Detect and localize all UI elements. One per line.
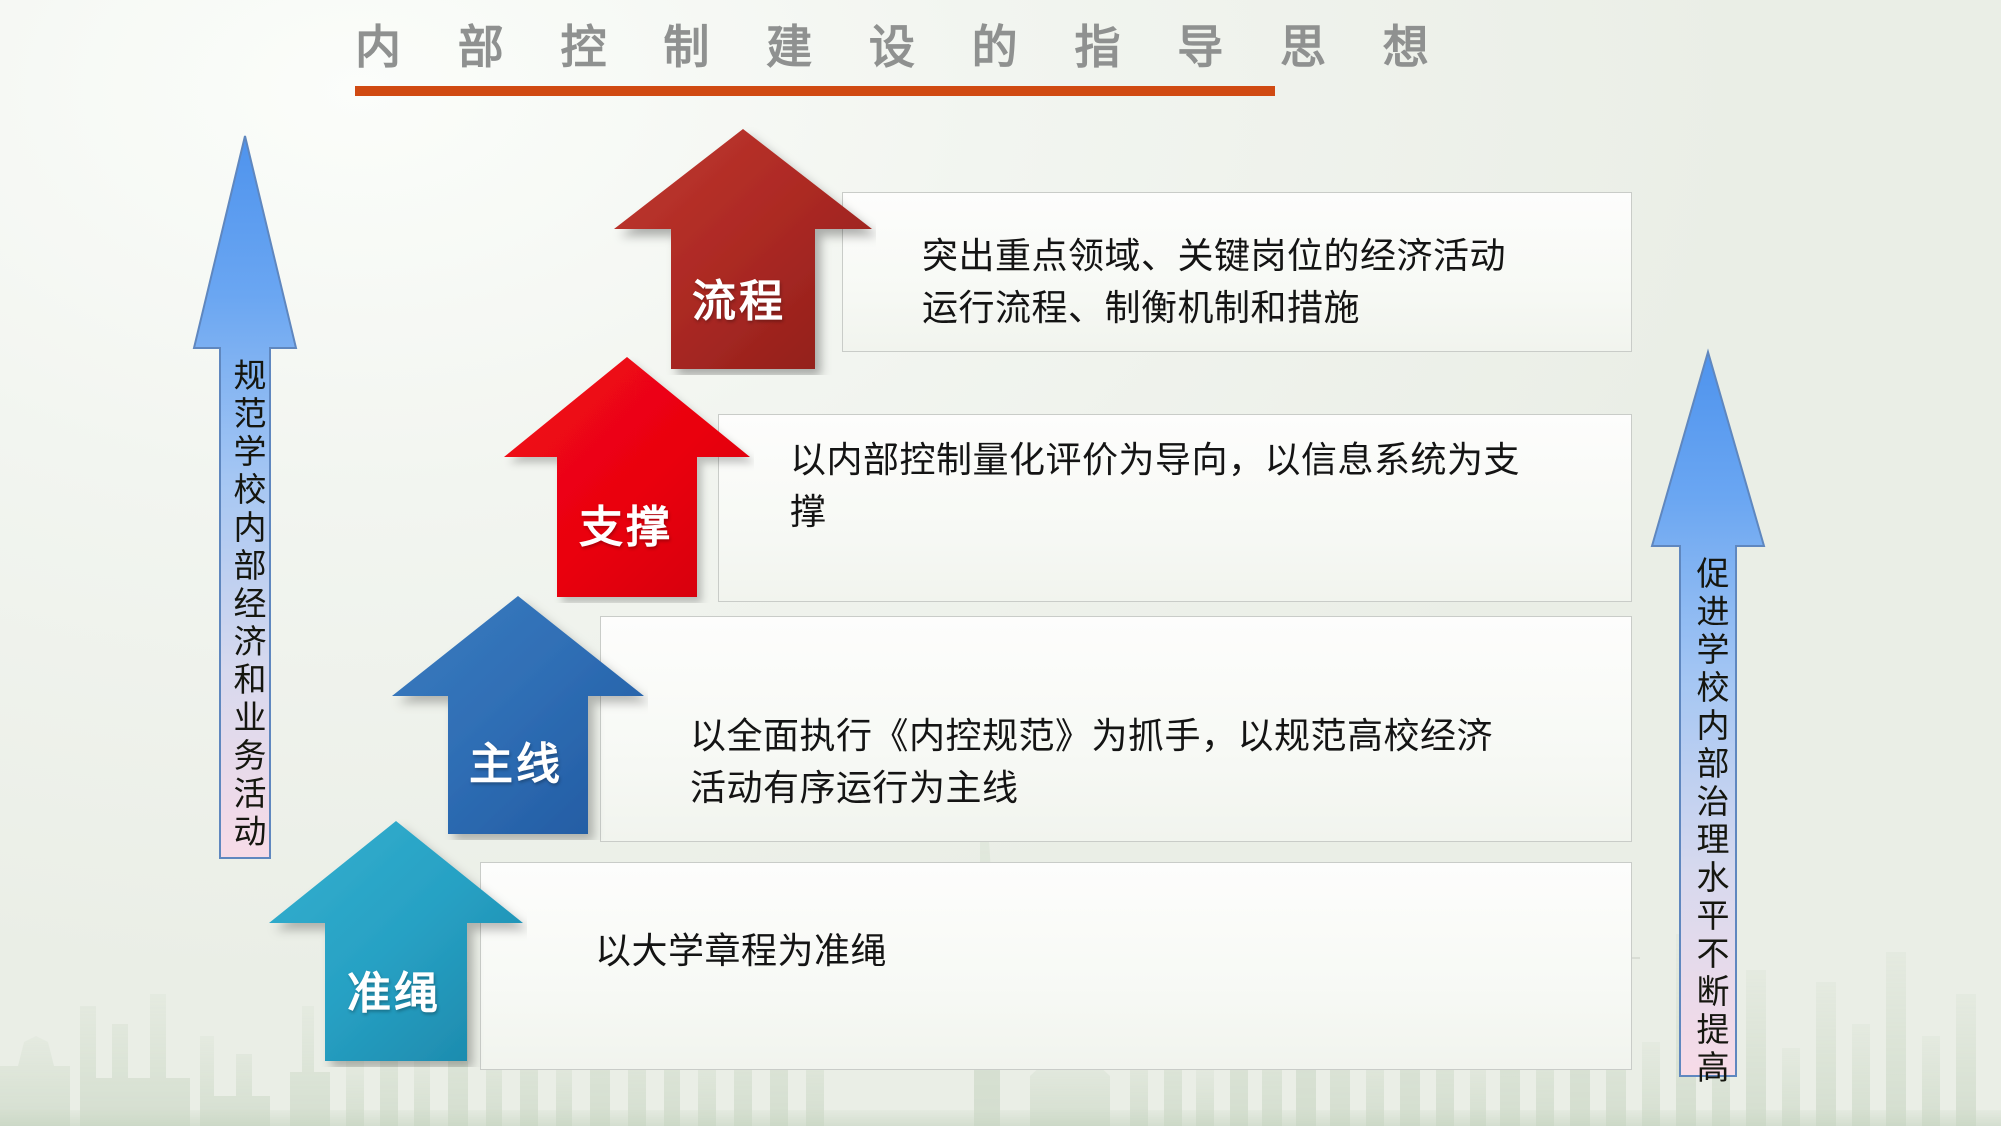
description-text-2: 以内部控制量化评价为导向，以信息系统为支 撑: [790, 434, 1620, 538]
description-line: 活动有序运行为主线: [690, 762, 1640, 814]
step-arrow-shape-3: [388, 592, 648, 840]
description-text-4: 以大学章程为准绳: [595, 925, 1295, 977]
slide-canvas: 内 部 控 制 建 设 的 指 导 思 想 规范学校内部经济和业务活动: [0, 0, 2001, 1126]
left-outcome-arrow: 规范学校内部经济和业务活动: [190, 132, 300, 862]
description-line: 以大学章程为准绳: [595, 925, 1295, 977]
step-arrow-zhunsheng: 准绳: [265, 817, 527, 1067]
description-line: 以内部控制量化评价为导向，以信息系统为支: [790, 434, 1620, 486]
description-line: 撑: [790, 486, 1620, 538]
step-arrow-shape-4: [265, 817, 527, 1067]
step-arrow-zhicheng: 支撑: [500, 353, 754, 603]
left-arrow-label: 规范学校内部经济和业务活动: [229, 358, 262, 852]
step-arrow-liucheng: 流程: [610, 125, 876, 375]
title-underline-rule: [355, 86, 1275, 96]
step-arrow-zhuxian: 主线: [388, 592, 648, 840]
step-label-2: 支撑: [579, 491, 673, 555]
step-label-4: 准绳: [347, 957, 441, 1021]
right-arrow-label: 促进学校内部治理水平不断提高: [1692, 556, 1725, 1088]
right-outcome-arrow: 促进学校内部治理水平不断提高: [1648, 348, 1768, 1080]
description-line: 突出重点领域、关键岗位的经济活动: [922, 230, 1622, 282]
step-arrow-shape-2: [500, 353, 754, 603]
description-text-3: 以全面执行《内控规范》为抓手，以规范高校经济 活动有序运行为主线: [690, 710, 1640, 814]
step-label-3: 主线: [469, 728, 563, 792]
description-line: 以全面执行《内控规范》为抓手，以规范高校经济: [690, 710, 1640, 762]
description-line: 运行流程、制衡机制和措施: [922, 282, 1622, 334]
step-arrow-shape-1: [610, 125, 876, 375]
step-label-1: 流程: [692, 265, 786, 329]
description-text-1: 突出重点领域、关键岗位的经济活动 运行流程、制衡机制和措施: [922, 230, 1622, 334]
page-title: 内 部 控 制 建 设 的 指 导 思 想: [355, 16, 1285, 78]
slide-title-block: 内 部 控 制 建 设 的 指 导 思 想: [355, 16, 1285, 96]
